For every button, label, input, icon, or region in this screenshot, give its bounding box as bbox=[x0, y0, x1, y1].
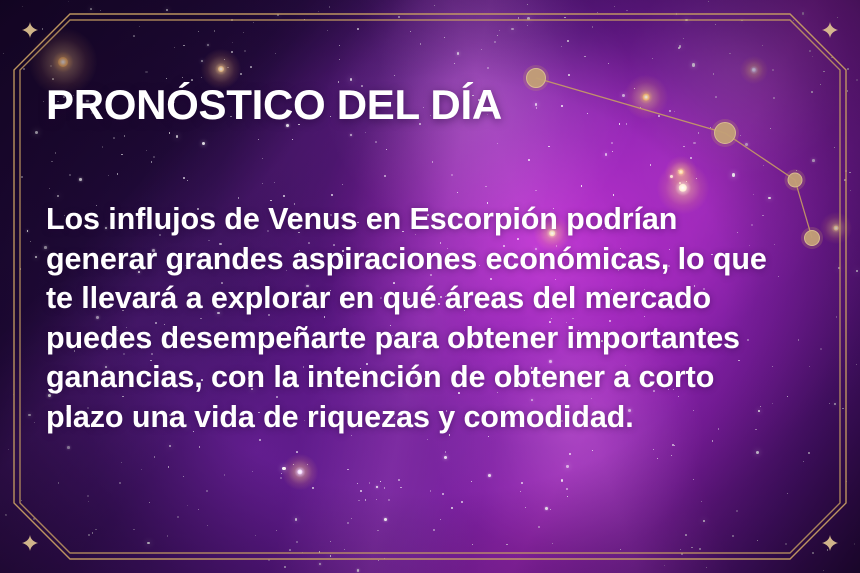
star-dot bbox=[740, 135, 741, 136]
star-dot bbox=[444, 37, 445, 38]
star-dot bbox=[652, 58, 653, 59]
star-dot-bright bbox=[147, 542, 149, 544]
star-dot bbox=[289, 549, 291, 551]
star-dot bbox=[231, 19, 233, 21]
star-dot-bright bbox=[703, 520, 705, 522]
star-dot-bright bbox=[838, 267, 840, 269]
star-dot bbox=[427, 439, 428, 440]
star-dot bbox=[117, 173, 118, 174]
star-dot bbox=[43, 101, 44, 102]
star-dot bbox=[732, 535, 734, 537]
star-dot bbox=[657, 458, 658, 459]
star-dot bbox=[736, 510, 738, 512]
star-dot bbox=[433, 529, 435, 531]
star-dot-bright bbox=[527, 17, 530, 20]
star-dot-bright bbox=[605, 153, 608, 156]
star-dot bbox=[678, 170, 679, 171]
star-dot-bright bbox=[732, 173, 735, 176]
star-dot bbox=[240, 73, 242, 75]
star-dot bbox=[342, 184, 343, 185]
star-dot bbox=[831, 57, 833, 59]
star-dot bbox=[339, 45, 341, 47]
constellation-node-halo bbox=[785, 170, 806, 191]
star-dot-bright bbox=[856, 270, 858, 272]
glow-star bbox=[740, 56, 768, 84]
star-dot bbox=[420, 43, 421, 44]
star-dot bbox=[5, 514, 6, 515]
star-dot bbox=[121, 154, 122, 155]
star-dot bbox=[141, 469, 142, 470]
star-dot bbox=[614, 6, 615, 7]
star-dot bbox=[693, 479, 694, 480]
star-dot bbox=[268, 559, 270, 561]
star-dot bbox=[494, 41, 496, 43]
star-dot bbox=[520, 491, 521, 492]
star-dot bbox=[681, 553, 683, 555]
star-dot bbox=[757, 540, 758, 541]
star-dot-bright bbox=[384, 518, 387, 521]
star-dot bbox=[847, 68, 849, 70]
star-dot bbox=[187, 180, 188, 181]
star-dot-bright bbox=[202, 142, 205, 145]
star-dot bbox=[302, 552, 303, 553]
star-dot bbox=[174, 47, 175, 48]
star-dot bbox=[552, 543, 553, 544]
star-dot bbox=[527, 4, 528, 5]
star-dot-bright bbox=[802, 12, 804, 14]
star-dot bbox=[139, 26, 140, 27]
star-dot bbox=[499, 30, 500, 31]
star-dot bbox=[365, 499, 366, 500]
star-dot bbox=[386, 149, 387, 150]
star-dot bbox=[708, 1, 709, 2]
star-dot bbox=[461, 501, 463, 503]
star-dot-bright bbox=[166, 9, 168, 11]
star-dot bbox=[611, 142, 613, 144]
star-dot bbox=[259, 439, 261, 441]
star-dot-bright bbox=[444, 456, 447, 459]
star-dot bbox=[275, 53, 276, 54]
star-dot bbox=[360, 490, 362, 492]
star-dot bbox=[698, 132, 700, 134]
star-dot bbox=[307, 464, 308, 465]
forecast-line: ganancias, con la intención de obtener a… bbox=[46, 358, 838, 398]
star-dot bbox=[812, 552, 814, 554]
star-dot bbox=[376, 499, 377, 500]
star-dot bbox=[679, 182, 681, 184]
star-dot bbox=[834, 147, 836, 149]
star-dot bbox=[481, 49, 482, 50]
star-dot bbox=[207, 525, 209, 527]
star-dot bbox=[88, 534, 90, 536]
star-dot bbox=[528, 159, 529, 160]
star-dot bbox=[388, 499, 390, 501]
star-dot bbox=[710, 127, 711, 128]
star-dot bbox=[51, 161, 53, 163]
star-dot bbox=[199, 446, 201, 448]
sparkle-icon bbox=[22, 22, 38, 38]
star-dot bbox=[250, 66, 252, 68]
star-dot-bright bbox=[67, 446, 70, 449]
star-dot-bright bbox=[277, 14, 279, 16]
star-dot bbox=[253, 22, 254, 23]
star-dot bbox=[49, 188, 50, 189]
glow-star bbox=[665, 156, 697, 188]
star-dot bbox=[20, 268, 22, 270]
star-dot bbox=[701, 501, 702, 502]
star-dot bbox=[95, 529, 97, 531]
forecast-body-text: Los influjos de Venus en Escorpión podrí… bbox=[46, 200, 838, 437]
star-dot bbox=[521, 482, 523, 484]
star-dot bbox=[296, 541, 298, 543]
star-dot bbox=[198, 31, 199, 32]
star-dot bbox=[712, 440, 714, 442]
star-dot bbox=[5, 514, 7, 516]
star-dot bbox=[280, 477, 282, 479]
star-dot bbox=[856, 79, 858, 81]
star-dot bbox=[440, 519, 441, 520]
star-dot bbox=[729, 53, 730, 54]
star-dot bbox=[22, 6, 23, 7]
star-dot bbox=[567, 40, 569, 42]
star-dot bbox=[365, 132, 367, 134]
star-dot bbox=[58, 482, 59, 483]
forecast-card: PRONÓSTICO DEL DÍA Los influjos de Venus… bbox=[0, 0, 860, 573]
star-dot bbox=[30, 241, 31, 242]
star-dot bbox=[561, 479, 563, 481]
star-dot bbox=[339, 59, 340, 60]
star-dot bbox=[55, 152, 57, 154]
star-dot bbox=[21, 176, 23, 178]
star-dot bbox=[672, 444, 674, 446]
star-dot bbox=[169, 132, 171, 134]
page-title: PRONÓSTICO DEL DÍA bbox=[46, 84, 836, 126]
star-dot-bright bbox=[282, 467, 285, 470]
star-dot bbox=[561, 46, 562, 47]
star-dot bbox=[518, 17, 520, 19]
star-dot bbox=[369, 482, 371, 484]
star-dot bbox=[525, 507, 526, 508]
star-dot bbox=[244, 50, 246, 52]
forecast-line: te llevará a explorar en qué áreas del m… bbox=[46, 279, 838, 319]
star-dot bbox=[154, 456, 156, 458]
star-dot bbox=[497, 35, 498, 36]
star-dot bbox=[133, 529, 134, 530]
star-dot bbox=[378, 560, 379, 561]
star-dot-bright bbox=[207, 44, 209, 46]
star-dot bbox=[69, 174, 71, 176]
star-dot bbox=[693, 142, 695, 144]
star-dot-bright bbox=[295, 518, 297, 520]
star-dot-bright bbox=[745, 143, 748, 146]
star-dot bbox=[691, 547, 693, 549]
star-dot bbox=[133, 35, 135, 37]
star-dot bbox=[384, 175, 386, 177]
star-dot-bright bbox=[27, 230, 29, 232]
star-dot-bright bbox=[756, 451, 759, 454]
star-dot bbox=[100, 10, 102, 12]
star-dot bbox=[674, 445, 675, 446]
star-dot bbox=[664, 565, 665, 566]
star-dot bbox=[145, 71, 147, 73]
star-dot-bright bbox=[176, 135, 178, 137]
star-dot bbox=[182, 77, 183, 78]
star-dot bbox=[198, 509, 199, 510]
star-dot bbox=[284, 566, 286, 568]
star-dot bbox=[121, 462, 122, 463]
star-dot-bright bbox=[330, 555, 332, 557]
star-dot bbox=[183, 45, 185, 47]
star-dot bbox=[845, 170, 847, 172]
star-dot bbox=[347, 522, 349, 524]
star-dot-bright bbox=[545, 507, 548, 510]
star-dot bbox=[548, 146, 550, 148]
star-dot bbox=[113, 137, 115, 139]
star-dot bbox=[592, 26, 594, 28]
star-dot bbox=[849, 172, 850, 173]
star-dot bbox=[276, 530, 277, 531]
star-dot bbox=[763, 165, 764, 166]
star-dot bbox=[451, 174, 453, 176]
star-dot bbox=[238, 197, 240, 199]
star-dot bbox=[88, 501, 89, 502]
star-dot bbox=[410, 31, 411, 32]
star-dot bbox=[146, 150, 147, 151]
star-dot bbox=[454, 63, 455, 64]
star-dot bbox=[569, 453, 571, 455]
star-dot bbox=[430, 490, 431, 491]
star-dot-bright bbox=[679, 45, 682, 48]
star-dot bbox=[168, 466, 169, 467]
star-dot bbox=[52, 78, 54, 80]
forecast-line: Los influjos de Venus en Escorpión podrí… bbox=[46, 200, 838, 240]
star-dot-bright bbox=[350, 134, 352, 136]
star-dot bbox=[344, 549, 345, 550]
star-dot bbox=[432, 161, 434, 163]
sparkle-icon bbox=[822, 535, 838, 551]
star-dot bbox=[224, 59, 225, 60]
star-dot bbox=[151, 161, 152, 162]
star-dot bbox=[506, 544, 507, 545]
star-dot bbox=[685, 534, 687, 536]
star-dot-bright bbox=[692, 63, 695, 66]
star-dot bbox=[770, 128, 771, 129]
star-dot bbox=[457, 192, 458, 193]
star-dot bbox=[398, 16, 400, 18]
star-dot bbox=[796, 170, 797, 171]
star-dot bbox=[597, 12, 599, 14]
star-dot bbox=[243, 32, 244, 33]
star-dot bbox=[445, 451, 446, 452]
star-dot-bright bbox=[812, 159, 815, 162]
star-dot bbox=[274, 182, 275, 183]
card-content: PRONÓSTICO DEL DÍA Los influjos de Venus… bbox=[46, 84, 836, 126]
star-dot bbox=[255, 535, 256, 536]
star-dot bbox=[612, 151, 613, 152]
star-dot bbox=[856, 364, 857, 365]
star-dot bbox=[828, 540, 829, 541]
star-dot bbox=[626, 10, 627, 11]
star-dot bbox=[375, 141, 377, 143]
star-dot bbox=[329, 6, 331, 8]
star-dot bbox=[567, 496, 568, 497]
star-dot bbox=[281, 473, 282, 474]
star-dot bbox=[8, 449, 9, 450]
glow-star-core bbox=[678, 169, 683, 174]
star-dot bbox=[319, 551, 320, 552]
star-dot bbox=[785, 543, 787, 545]
star-dot bbox=[678, 47, 680, 49]
star-dot bbox=[394, 75, 395, 76]
star-dot bbox=[292, 139, 293, 140]
star-dot bbox=[92, 532, 94, 534]
star-dot-bright bbox=[319, 563, 321, 565]
star-dot bbox=[283, 195, 285, 197]
star-dot bbox=[762, 45, 763, 46]
star-dot bbox=[680, 549, 681, 550]
star-dot bbox=[33, 518, 35, 520]
star-dot bbox=[827, 549, 829, 551]
star-dot-bright bbox=[169, 445, 171, 447]
star-dot-bright bbox=[511, 28, 513, 30]
glow-star-core bbox=[679, 184, 687, 192]
star-dot bbox=[696, 178, 697, 179]
star-dot bbox=[846, 481, 848, 483]
star-dot bbox=[772, 69, 774, 71]
star-dot bbox=[686, 181, 687, 182]
constellation-line bbox=[725, 133, 795, 180]
star-dot bbox=[793, 20, 795, 22]
forecast-line: puedes desempeñarte para obtener importa… bbox=[46, 319, 838, 359]
star-dot bbox=[398, 479, 400, 481]
star-dot bbox=[823, 570, 824, 571]
star-dot bbox=[451, 507, 452, 508]
star-dot-bright bbox=[457, 52, 460, 55]
star-dot bbox=[713, 73, 715, 75]
star-dot bbox=[808, 452, 810, 454]
star-dot bbox=[690, 157, 692, 159]
star-dot bbox=[485, 186, 487, 188]
star-dot bbox=[351, 518, 353, 520]
star-dot bbox=[842, 408, 844, 410]
star-dot bbox=[318, 11, 319, 12]
star-dot bbox=[564, 17, 566, 19]
star-dot-bright bbox=[676, 13, 678, 15]
star-dot bbox=[177, 516, 179, 518]
glow-star-core bbox=[752, 68, 756, 72]
star-dot bbox=[231, 51, 233, 53]
star-dot bbox=[850, 190, 851, 191]
star-dot bbox=[293, 464, 294, 465]
star-dot bbox=[650, 164, 651, 165]
star-dot-bright bbox=[357, 569, 359, 571]
star-dot bbox=[671, 455, 672, 456]
star-dot-bright bbox=[741, 20, 743, 22]
star-dot bbox=[201, 77, 202, 78]
star-dot bbox=[258, 139, 259, 140]
star-dot bbox=[262, 183, 263, 184]
star-dot bbox=[68, 1, 69, 2]
star-dot bbox=[837, 17, 838, 18]
star-dot bbox=[34, 422, 35, 423]
star-dot bbox=[232, 42, 233, 43]
star-dot bbox=[23, 68, 25, 70]
star-dot bbox=[380, 481, 381, 482]
star-dot bbox=[487, 67, 489, 69]
star-dot bbox=[400, 487, 401, 488]
star-dot bbox=[296, 451, 298, 453]
star-dot bbox=[304, 19, 305, 20]
star-dot bbox=[166, 78, 167, 79]
star-dot bbox=[844, 179, 846, 181]
star-dot bbox=[538, 526, 540, 528]
star-dot bbox=[21, 500, 22, 501]
star-dot bbox=[787, 493, 788, 494]
star-dot bbox=[568, 74, 570, 76]
star-dot bbox=[854, 543, 856, 545]
star-dot bbox=[527, 25, 528, 26]
glow-star-core bbox=[58, 57, 68, 67]
star-dot bbox=[330, 541, 331, 542]
star-dot bbox=[3, 53, 4, 54]
star-dot bbox=[384, 487, 386, 489]
star-dot bbox=[683, 146, 685, 148]
star-dot bbox=[706, 567, 707, 568]
star-dot bbox=[472, 544, 474, 546]
star-dot bbox=[187, 505, 188, 506]
star-dot bbox=[581, 185, 583, 187]
star-dot bbox=[108, 175, 109, 176]
star-dot bbox=[252, 471, 253, 472]
forecast-line: generar grandes aspiraciones económicas,… bbox=[46, 240, 838, 280]
star-dot bbox=[442, 493, 444, 495]
star-dot-bright bbox=[566, 465, 568, 467]
star-dot bbox=[358, 500, 359, 501]
star-dot bbox=[312, 487, 313, 488]
star-dot-bright bbox=[57, 195, 59, 197]
star-dot bbox=[149, 502, 151, 504]
star-dot bbox=[13, 394, 14, 395]
star-dot bbox=[124, 135, 125, 136]
star-dot bbox=[30, 32, 31, 33]
star-dot bbox=[753, 194, 755, 196]
star-dot bbox=[584, 56, 585, 57]
star-dot-bright bbox=[376, 486, 378, 488]
star-dot bbox=[102, 146, 104, 148]
star-dot bbox=[803, 461, 804, 462]
star-dot-bright bbox=[488, 474, 491, 477]
star-dot bbox=[214, 30, 216, 32]
star-dot bbox=[183, 177, 185, 179]
star-dot bbox=[384, 558, 385, 559]
star-dot bbox=[653, 449, 654, 450]
star-dot bbox=[823, 71, 825, 73]
star-dot bbox=[262, 158, 263, 159]
star-dot bbox=[327, 30, 328, 31]
glow-star bbox=[282, 454, 318, 490]
star-dot bbox=[357, 28, 359, 30]
star-dot bbox=[377, 530, 378, 531]
star-dot bbox=[715, 24, 716, 25]
star-dot-bright bbox=[90, 8, 92, 10]
glow-star-core bbox=[218, 66, 224, 72]
star-dot bbox=[812, 56, 813, 57]
star-dot bbox=[809, 50, 811, 52]
star-dot-bright bbox=[685, 19, 688, 22]
star-dot bbox=[331, 194, 332, 195]
star-dot bbox=[206, 490, 208, 492]
star-dot bbox=[620, 549, 621, 550]
